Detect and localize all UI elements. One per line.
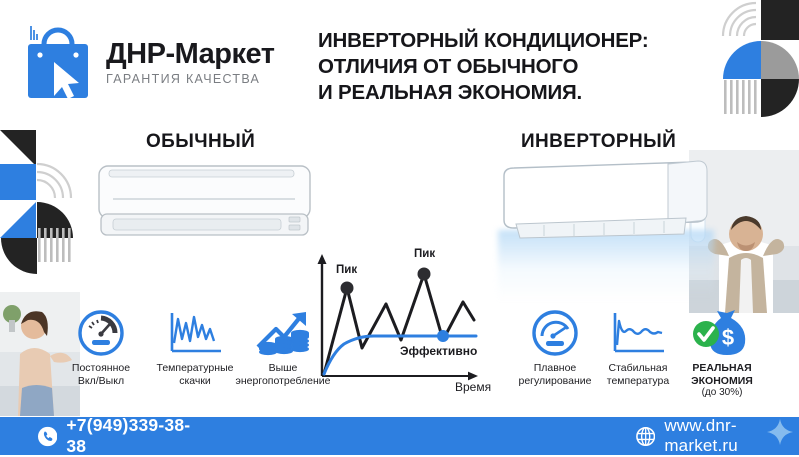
footer-bar: +7(949)339-38-38 www.dnr-market.ru <box>0 417 799 455</box>
money-bag-check-icon: $ <box>672 305 772 357</box>
feature-constant-onoff: Постоянное Вкл/Выкл <box>55 305 147 387</box>
feature-label: Выше энергопотребление <box>228 362 338 387</box>
section-title-conventional: ОБЫЧНЫЙ <box>146 131 255 153</box>
page-title: ИНВЕРТОРНЫЙ КОНДИЦИОНЕР: ОТЛИЧИЯ ОТ ОБЫЧ… <box>318 28 738 107</box>
feature-label: РЕАЛЬНАЯ ЭКОНОМИЯ <box>672 362 772 387</box>
feature-higher-consumption: Выше энергопотребление <box>228 305 338 387</box>
shopping-bag-cursor-icon <box>22 24 94 102</box>
chart-annotation-peak-1: Пик <box>336 264 357 276</box>
feature-real-savings: $ РЕАЛЬНАЯ ЭКОНОМИЯ (до 30%) <box>672 305 772 398</box>
brand-logo: ДНР-Маркет ГАРАНТИЯ КАЧЕСТВА <box>22 24 274 102</box>
feature-sublabel: (до 30%) <box>672 387 772 398</box>
coins-up-arrow-icon <box>228 305 338 357</box>
chart-x-axis-label: Время <box>455 380 491 394</box>
chart-efficient-marker <box>437 330 449 342</box>
air-conditioner-conventional <box>97 162 312 238</box>
chart-annotation-efficient: Эффективно <box>400 344 477 358</box>
gauge-icon <box>55 305 147 357</box>
chart-annotation-peak-2: Пик <box>414 248 435 260</box>
phone-icon <box>38 426 57 447</box>
poster-canvas: ДНР-Маркет ГАРАНТИЯ КАЧЕСТВА ИНВЕРТОРНЫЙ… <box>0 0 799 455</box>
footer-phone-text: +7(949)339-38-38 <box>66 415 199 457</box>
headline-line-1: ИНВЕРТОРНЫЙ КОНДИЦИОНЕР: <box>318 28 738 54</box>
brand-title: ДНР-Маркет <box>106 39 274 69</box>
headline-line-2: ОТЛИЧИЯ ОТ ОБЫЧНОГО <box>318 54 738 80</box>
chart-peak-marker-1 <box>341 282 354 295</box>
chart-peak-marker-2 <box>418 268 431 281</box>
svg-text:$: $ <box>722 325 734 350</box>
section-title-inverter: ИНВЕРТОРНЫЙ <box>521 131 676 153</box>
decoration-left <box>0 120 112 305</box>
brand-tagline: ГАРАНТИЯ КАЧЕСТВА <box>106 72 274 87</box>
footer-phone[interactable]: +7(949)339-38-38 <box>38 415 199 457</box>
globe-icon <box>636 426 655 447</box>
sparkle-icon <box>767 419 793 445</box>
air-conditioner-inverter <box>498 158 714 246</box>
feature-label: Постоянное Вкл/Выкл <box>55 362 147 387</box>
headline-line-3: И РЕАЛЬНАЯ ЭКОНОМИЯ. <box>318 80 738 106</box>
